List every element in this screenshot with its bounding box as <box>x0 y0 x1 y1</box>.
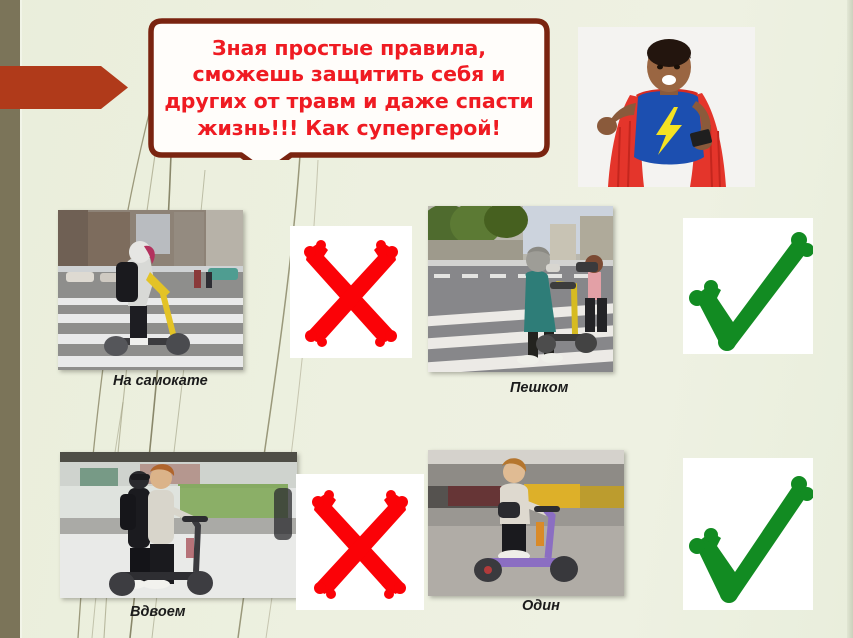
pointer-arrow-icon <box>0 64 128 111</box>
comparison-image-row2-left <box>60 452 297 598</box>
caption-row1-right: Пешком <box>510 380 568 396</box>
slide-canvas: Зная простые правила, сможешь защитить с… <box>0 0 853 638</box>
right-edge-shade <box>847 0 853 638</box>
green-check-icon <box>683 218 813 354</box>
scooter-rider-crosswalk-illustration <box>58 210 243 370</box>
speech-bubble: Зная простые правила, сможешь защитить с… <box>146 16 552 160</box>
two-riders-scooter-illustration <box>60 452 297 598</box>
caption-row1-left: На самокате <box>113 373 208 389</box>
verdict-card-row1-right <box>683 218 813 354</box>
verdict-card-row2-left <box>296 474 424 610</box>
red-cross-icon <box>296 474 424 610</box>
caption-row2-right: Один <box>522 598 560 614</box>
superhero-illustration <box>578 27 755 187</box>
superhero-image <box>578 27 755 187</box>
callout-text: Зная простые правила, сможешь защитить с… <box>162 32 536 144</box>
woman-walking-scooter-illustration <box>428 206 613 372</box>
caption-row2-left: Вдвоем <box>130 604 185 620</box>
green-check-icon <box>683 458 813 610</box>
verdict-card-row2-right <box>683 458 813 610</box>
red-cross-icon <box>290 226 412 358</box>
comparison-image-row1-left <box>58 210 243 370</box>
comparison-image-row2-right <box>428 450 624 596</box>
single-rider-scooter-illustration <box>428 450 624 596</box>
verdict-card-row1-left <box>290 226 412 358</box>
comparison-image-row1-right <box>428 206 613 372</box>
